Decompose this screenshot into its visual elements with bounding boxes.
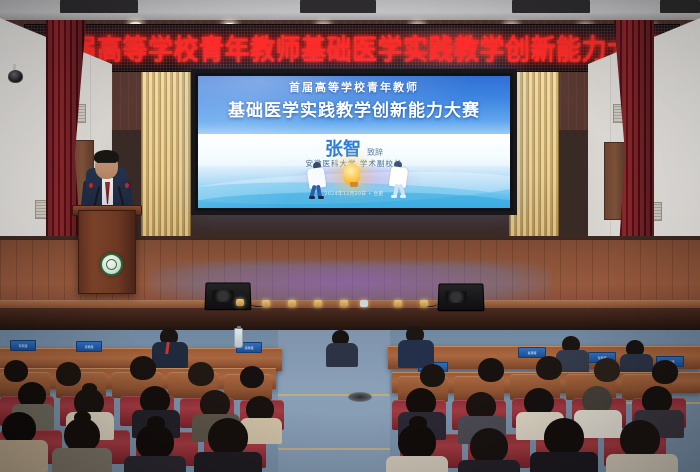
person-head <box>208 418 248 456</box>
university-crest-icon <box>100 253 123 276</box>
person-torso <box>194 452 262 472</box>
aisle-stripe <box>278 448 390 450</box>
stage-floor-light <box>314 300 322 307</box>
person-head <box>620 420 660 458</box>
person-head <box>544 418 584 456</box>
placard-label: 嘉宾席 <box>527 351 536 355</box>
hair-bun <box>74 411 91 424</box>
placard-label: 专家席 <box>18 344 27 348</box>
person-torso <box>458 460 520 472</box>
security-camera-icon <box>8 70 23 83</box>
hair-bun <box>147 416 165 430</box>
stage-apron <box>0 308 700 332</box>
person-head <box>652 360 678 384</box>
stage-floor-light <box>262 300 270 307</box>
slide-speaker-action: 致辞 <box>367 147 383 158</box>
microphone-head-right <box>125 183 129 188</box>
ceiling-panel <box>512 0 590 13</box>
name-placard: 评委席 <box>76 341 102 352</box>
hair-bun <box>409 416 427 430</box>
person-head <box>470 428 508 464</box>
ceiling-panel <box>300 0 376 13</box>
person-head <box>130 356 156 380</box>
stage-monitor-right <box>437 283 484 311</box>
slide-line-1: 首届高等学校青年教师 <box>198 79 510 95</box>
person-head <box>4 360 28 382</box>
water-bottle <box>234 328 243 348</box>
person-head <box>536 356 562 380</box>
person-head <box>420 364 445 387</box>
person-torso <box>530 452 598 472</box>
stage-floor-light <box>236 299 244 306</box>
ceiling-panel <box>660 0 700 13</box>
slide-date-line: 2024年12月20日 • 合肥 <box>198 191 510 197</box>
doctor-figure-right <box>385 159 411 195</box>
placard-label: 领导席 <box>244 346 253 350</box>
person-torso <box>386 456 448 472</box>
floor-outlet-cover <box>348 392 372 402</box>
stage-monitor-left <box>204 282 251 310</box>
ceiling-panel <box>60 0 138 13</box>
person-head <box>56 362 81 386</box>
person-torso <box>52 448 112 472</box>
person-head <box>594 358 620 382</box>
stage-floor-light <box>394 300 402 307</box>
slide-line-2: 基础医学实践教学创新能力大赛 <box>198 96 510 121</box>
auditorium-photo: 首届高等学校青年教师基础医学实践教学创新能力大赛 首届高等学 <box>0 0 700 472</box>
led-banner: 首届高等学校青年教师基础医学实践教学创新能力大赛 <box>24 24 680 72</box>
person-head <box>240 366 264 388</box>
person-torso <box>124 456 186 472</box>
person-head <box>188 362 214 386</box>
lightbulb-base-icon <box>350 182 358 187</box>
person-torso <box>152 342 188 368</box>
aisle-stripe <box>278 394 390 396</box>
hair-bun <box>82 383 97 394</box>
podium <box>78 210 136 294</box>
led-banner-text: 首届高等学校青年教师基础医学实践教学创新能力大赛 <box>46 28 658 68</box>
person-torso <box>326 343 358 367</box>
name-placard: 专家席 <box>10 340 36 351</box>
name-placard: 嘉宾席 <box>518 347 546 358</box>
person-torso <box>0 440 48 472</box>
stage-floor-light <box>340 300 348 307</box>
projection-screen: 首届高等学校青年教师 基础医学实践教学创新能力大赛 张智 致辞 安徽医科大学 学… <box>191 69 517 215</box>
person-head <box>478 358 504 382</box>
left-gold-curtain <box>141 72 191 240</box>
stage-floor-light <box>360 300 368 307</box>
placard-label: 评委席 <box>84 345 93 349</box>
microphone-head-left <box>89 183 93 188</box>
slide-content: 首届高等学校青年教师 基础医学实践教学创新能力大赛 张智 致辞 安徽医科大学 学… <box>198 76 510 208</box>
stage-floor-light <box>288 300 296 307</box>
speaker-glasses-icon <box>97 162 116 167</box>
stage-floor-light <box>420 300 428 307</box>
person-torso <box>606 454 678 472</box>
